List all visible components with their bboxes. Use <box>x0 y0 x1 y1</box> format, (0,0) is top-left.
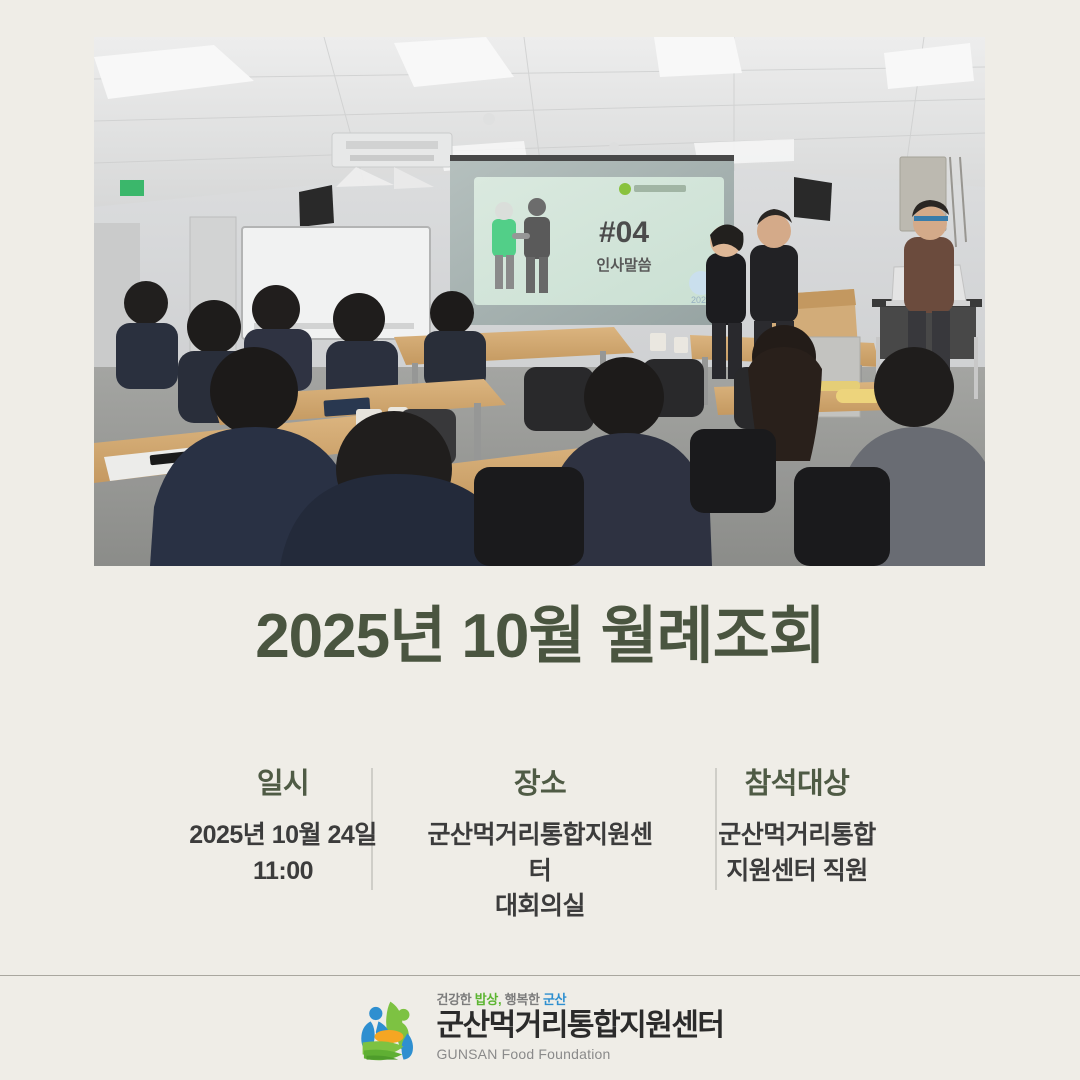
info-line: 대회의실 <box>418 889 663 925</box>
info-line: 2025년 10월 24일 <box>161 818 406 854</box>
info-column-place: 장소 군산먹거리통합지원센터 대회의실 <box>412 760 669 925</box>
page-title: 2025년 10월 월례조회 <box>0 603 1080 671</box>
event-photo: #04 인사말씀 2025 <box>94 37 985 566</box>
tagline-part-1: 건강한 <box>436 992 474 1007</box>
logo-english-name: GUNSAN Food Foundation <box>436 1045 723 1063</box>
info-line: 군산먹거리통합 <box>675 818 920 854</box>
logo-tagline: 건강한 밥상, 행복한 군산 <box>436 993 723 1006</box>
logo-organization-name: 군산먹거리통합지원센터 <box>436 1010 723 1042</box>
event-info-row: 일시 2025년 10월 24일 11:00 장소 군산먹거리통합지원센터 대회… <box>0 760 1080 900</box>
info-line: 지원센터 직원 <box>675 854 920 890</box>
info-column-attendees: 참석대상 군산먹거리통합 지원센터 직원 <box>669 760 926 889</box>
info-line: 11:00 <box>161 854 406 890</box>
info-heading-attendees: 참석대상 <box>675 760 920 802</box>
tagline-part-3: 행복한 <box>501 992 543 1007</box>
info-heading-place: 장소 <box>418 760 663 802</box>
info-heading-datetime: 일시 <box>161 760 406 802</box>
event-photo-illustration: #04 인사말씀 2025 <box>94 37 985 566</box>
poster-canvas: #04 인사말씀 2025 <box>0 0 1080 1080</box>
tagline-part-2: 밥상, <box>475 992 502 1007</box>
footer-logo-text: 건강한 밥상, 행복한 군산 군산먹거리통합지원센터 GUNSAN Food F… <box>436 993 723 1063</box>
gunsan-food-foundation-logo-icon <box>356 995 422 1061</box>
info-column-datetime: 일시 2025년 10월 24일 11:00 <box>155 760 412 889</box>
info-value-datetime: 2025년 10월 24일 11:00 <box>161 818 406 889</box>
footer-logo-block: 건강한 밥상, 행복한 군산 군산먹거리통합지원센터 GUNSAN Food F… <box>0 976 1080 1080</box>
tagline-part-4: 군산 <box>543 992 566 1007</box>
info-value-attendees: 군산먹거리통합 지원센터 직원 <box>675 818 920 889</box>
info-line: 군산먹거리통합지원센터 <box>418 818 663 889</box>
info-value-place: 군산먹거리통합지원센터 대회의실 <box>418 818 663 925</box>
